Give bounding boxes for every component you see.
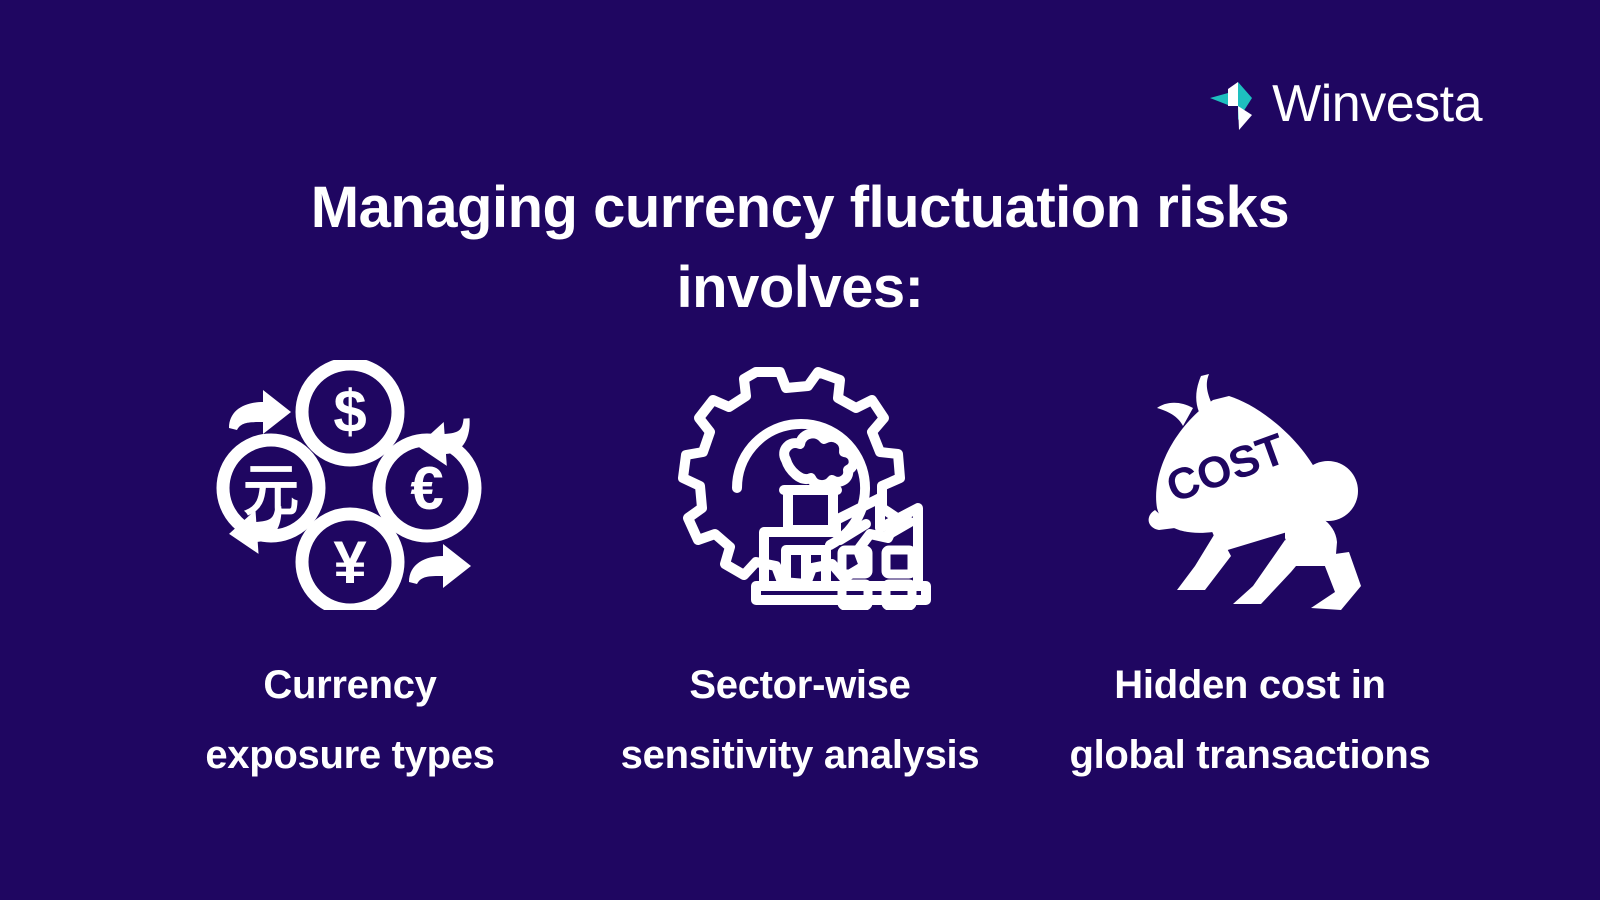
winvesta-bird-logo-icon — [1208, 76, 1260, 132]
svg-text:€: € — [410, 455, 443, 522]
person-carrying-cost-bag-icon: COST — [1135, 360, 1365, 610]
svg-text:$: $ — [333, 378, 366, 445]
svg-text:¥: ¥ — [333, 529, 367, 596]
feature-column-hidden-cost: COST Hidden cost in glob — [1025, 360, 1475, 790]
winvesta-wordmark: Winvesta — [1272, 78, 1482, 130]
page-title: Managing currency fluctuation risks invo… — [0, 168, 1600, 328]
feature-column-currency-exposure: $ € ¥ 元 — [125, 360, 575, 790]
winvesta-logo[interactable]: Winvesta — [1208, 76, 1482, 132]
svg-text:元: 元 — [243, 459, 299, 522]
currency-exchange-cycle-icon: $ € ¥ 元 — [215, 360, 485, 610]
feature-caption: Currency exposure types — [205, 650, 494, 790]
feature-column-sector-sensitivity: Sector-wise sensitivity analysis — [575, 360, 1025, 790]
factory-gear-icon — [668, 360, 933, 610]
feature-caption: Sector-wise sensitivity analysis — [621, 650, 980, 790]
feature-columns: $ € ¥ 元 — [0, 360, 1600, 790]
feature-caption: Hidden cost in global transactions — [1069, 650, 1430, 790]
